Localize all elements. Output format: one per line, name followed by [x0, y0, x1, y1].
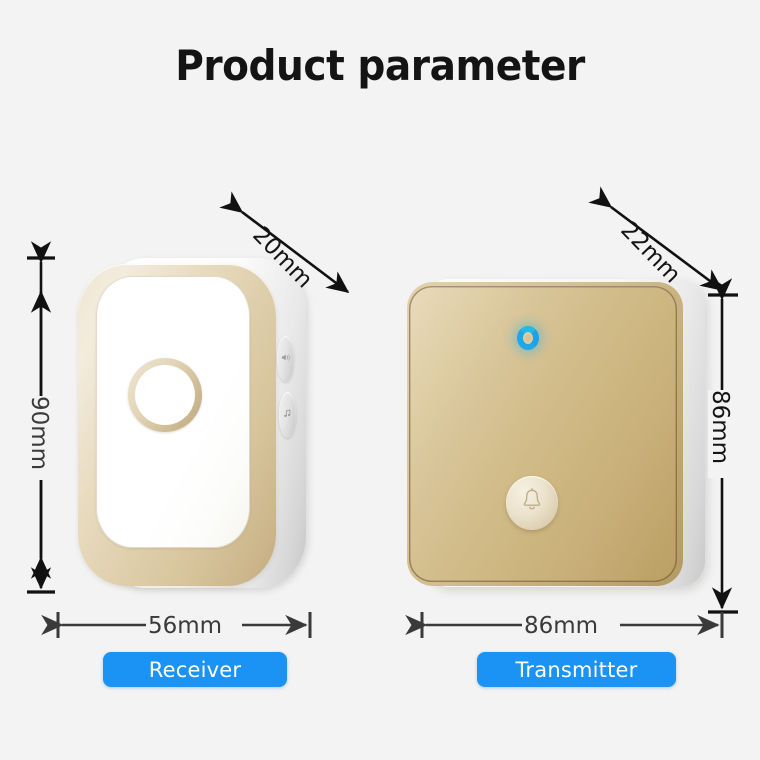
transmitter-caption-button[interactable]: Transmitter: [477, 652, 676, 687]
receiver-volume-button[interactable]: [277, 336, 294, 382]
transmitter-height-label: 86mm: [707, 390, 733, 464]
receiver-height-label: 90mm: [26, 396, 52, 470]
transmitter-front-face: [409, 286, 677, 582]
volume-icon: [280, 350, 291, 368]
receiver-melody-button[interactable]: [279, 392, 296, 438]
transmitter-width-label: 86mm: [524, 613, 598, 639]
product-parameter-diagram: Product parameter: [0, 0, 760, 760]
receiver-width-label: 56mm: [148, 613, 222, 639]
receiver-center-ring-button[interactable]: [128, 358, 202, 432]
led-ring-icon: [517, 326, 539, 350]
receiver-caption-button[interactable]: Receiver: [103, 652, 287, 687]
music-note-icon: [282, 406, 293, 424]
bell-icon: [519, 487, 545, 519]
receiver-product-image: [70, 252, 310, 600]
page-title: Product parameter: [27, 41, 734, 90]
transmitter-doorbell-button[interactable]: [506, 476, 558, 530]
transmitter-product-image: [405, 272, 705, 602]
